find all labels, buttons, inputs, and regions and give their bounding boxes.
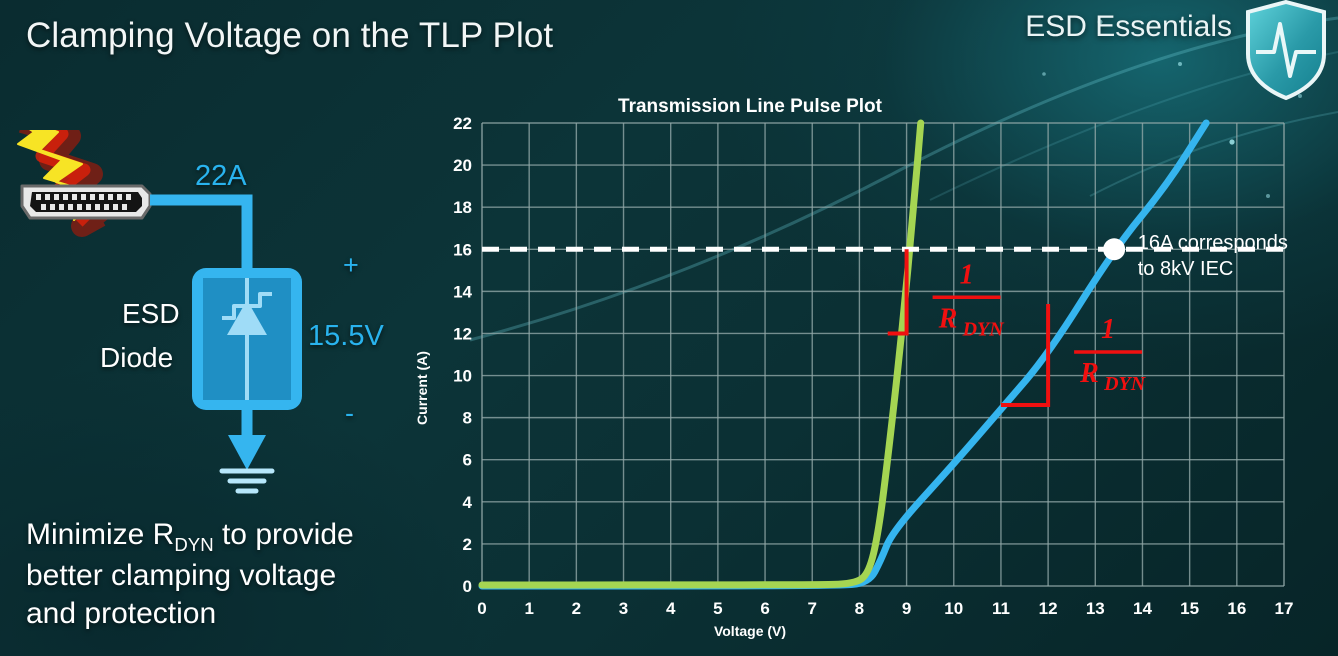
svg-text:8: 8 [463,409,472,428]
svg-text:R: R [1079,358,1099,389]
current-arrow-icon [228,435,266,470]
svg-text:DYN: DYN [962,318,1006,340]
svg-text:14: 14 [453,282,472,301]
surge-current-label: 22A [195,160,247,193]
svg-text:9: 9 [902,599,911,618]
svg-text:8: 8 [855,599,864,618]
chart-title: Transmission Line Pulse Plot [618,96,883,117]
svg-text:12: 12 [1039,599,1058,618]
tvs-diode-icon [192,268,302,410]
svg-text:20: 20 [453,156,472,175]
svg-text:6: 6 [463,451,472,470]
svg-text:2: 2 [572,599,581,618]
svg-text:1: 1 [524,599,533,618]
svg-text:R: R [938,303,958,334]
svg-text:5: 5 [713,599,722,618]
summary-line-1-post: to provide [214,518,354,551]
svg-text:to 8kV IEC: to 8kV IEC [1138,258,1234,280]
svg-text:16: 16 [453,240,472,259]
svg-text:0: 0 [463,577,472,596]
svg-text:22: 22 [453,114,472,133]
brand-label: ESD Essentials [1025,10,1232,44]
chart-text-annotations: 16A correspondsto 8kV IEC [1138,232,1288,280]
component-label-esd: ESD [122,298,180,330]
svg-text:10: 10 [944,599,963,618]
svg-text:6: 6 [760,599,769,618]
summary-line-1-sub: DYN [174,534,213,555]
svg-text:1: 1 [960,259,974,290]
chart-series [482,123,1206,586]
svg-text:12: 12 [453,324,472,343]
svg-text:15: 15 [1180,599,1199,618]
svg-text:13: 13 [1086,599,1105,618]
svg-text:10: 10 [453,367,472,386]
page-title: Clamping Voltage on the TLP Plot [26,16,553,56]
chart-markers [1103,238,1125,260]
svg-text:0: 0 [477,599,486,618]
y-axis-label: Current (A) [415,351,430,425]
summary-line-2: better clamping voltage [26,557,446,595]
slope-annotations: 1RDYN1RDYN [888,249,1147,405]
ground-symbol-icon [222,471,272,491]
x-axis-label: Voltage (V) [714,623,786,639]
svg-text:DYN: DYN [1103,373,1147,395]
svg-text:16A corresponds: 16A corresponds [1138,232,1288,254]
clamping-voltage-label: 15.5V [308,320,384,353]
component-label-diode: Diode [100,342,173,374]
tlp-chart: Transmission Line Pulse Plot 01234567891… [415,88,1330,648]
summary-line-1: Minimize RDYN to provide [26,516,446,557]
x-tick-labels: 01234567891011121314151617 [477,599,1293,618]
polarity-plus-label: + [343,250,359,281]
summary-text: Minimize RDYN to provide better clamping… [26,516,446,634]
svg-text:7: 7 [808,599,817,618]
summary-line-3: and protection [26,595,446,633]
svg-text:3: 3 [619,599,628,618]
svg-text:4: 4 [666,599,676,618]
svg-text:1: 1 [1101,314,1115,345]
hdmi-connector-icon [22,186,150,218]
svg-text:11: 11 [992,599,1010,618]
svg-text:2: 2 [463,535,472,554]
esd-diode-schematic: 22A ESD Diode 15.5V + - [0,130,420,510]
svg-text:4: 4 [463,493,473,512]
svg-text:14: 14 [1133,599,1152,618]
svg-text:16: 16 [1227,599,1246,618]
polarity-minus-label: - [345,398,354,429]
summary-line-1-pre: Minimize R [26,518,174,551]
svg-text:18: 18 [453,198,472,217]
svg-text:17: 17 [1275,599,1294,618]
y-tick-labels: 0246810121416182022 [453,114,472,596]
